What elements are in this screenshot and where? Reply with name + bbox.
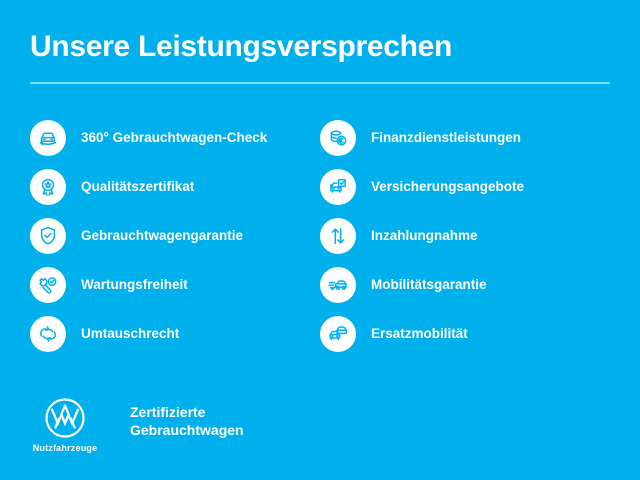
car-360-check-icon <box>30 120 66 156</box>
slide-root: Unsere Leistungsversprechen 360° Gebrauc… <box>0 0 640 480</box>
car-document-check-icon <box>320 169 356 205</box>
service-item-gebrauchtwagengarantie[interactable]: Gebrauchtwagengarantie <box>30 218 320 254</box>
wrench-check-icon <box>30 267 66 303</box>
service-item-finanzdienstleistungen[interactable]: Finanzdienstleistungen <box>320 120 610 156</box>
service-label: Finanzdienstleistungen <box>371 130 521 146</box>
award-rosette-icon <box>30 169 66 205</box>
service-label: Qualitätszertifikat <box>81 179 194 195</box>
service-label: Ersatzmobilität <box>371 326 468 342</box>
shield-check-icon <box>30 218 66 254</box>
van-motion-icon <box>320 267 356 303</box>
service-item-wartungsfreiheit[interactable]: Wartungsfreiheit <box>30 267 320 303</box>
service-label: Umtauschrecht <box>81 326 179 342</box>
service-label: Versicherungsangebote <box>371 179 524 195</box>
service-item-qualitaetszertifikat[interactable]: Qualitätszertifikat <box>30 169 320 205</box>
service-item-versicherungsangebote[interactable]: Versicherungsangebote <box>320 169 610 205</box>
brand-logo: Nutzfahrzeuge <box>30 396 100 453</box>
service-item-gebrauchtwagen-check[interactable]: 360° Gebrauchtwagen-Check <box>30 120 320 156</box>
header: Unsere Leistungsversprechen <box>30 30 610 84</box>
service-item-umtauschrecht[interactable]: Umtauschrecht <box>30 316 320 352</box>
service-label: 360° Gebrauchtwagen-Check <box>81 130 267 146</box>
two-cars-icon <box>320 316 356 352</box>
vw-roundel-logo-icon <box>43 396 87 440</box>
logo-wordmark: Nutzfahrzeuge <box>33 443 98 453</box>
page-title: Unsere Leistungsversprechen <box>30 30 610 63</box>
title-divider <box>30 82 610 84</box>
coins-euro-icon <box>320 120 356 156</box>
service-label: Gebrauchtwagengarantie <box>81 228 243 244</box>
service-label: Inzahlungnahme <box>371 228 478 244</box>
service-item-ersatzmobilitaet[interactable]: Ersatzmobilität <box>320 316 610 352</box>
exchange-arrows-icon <box>30 316 66 352</box>
footer: Nutzfahrzeuge Zertifizierte Gebrauchtwag… <box>30 396 244 453</box>
footer-caption-line1: Zertifizierte <box>130 403 244 421</box>
services-column-left: 360° Gebrauchtwagen-Check Qualitätszerti… <box>30 120 320 352</box>
arrows-up-down-icon <box>320 218 356 254</box>
footer-caption: Zertifizierte Gebrauchtwagen <box>130 403 244 440</box>
service-label: Wartungsfreiheit <box>81 277 188 293</box>
service-item-mobilitaetsgarantie[interactable]: Mobilitätsgarantie <box>320 267 610 303</box>
services-grid: 360° Gebrauchtwagen-Check Qualitätszerti… <box>30 120 610 352</box>
service-label: Mobilitätsgarantie <box>371 277 487 293</box>
services-column-right: Finanzdienstleistungen Versicherungsange… <box>320 120 610 352</box>
footer-caption-line2: Gebrauchtwagen <box>130 421 244 439</box>
service-item-inzahlungnahme[interactable]: Inzahlungnahme <box>320 218 610 254</box>
